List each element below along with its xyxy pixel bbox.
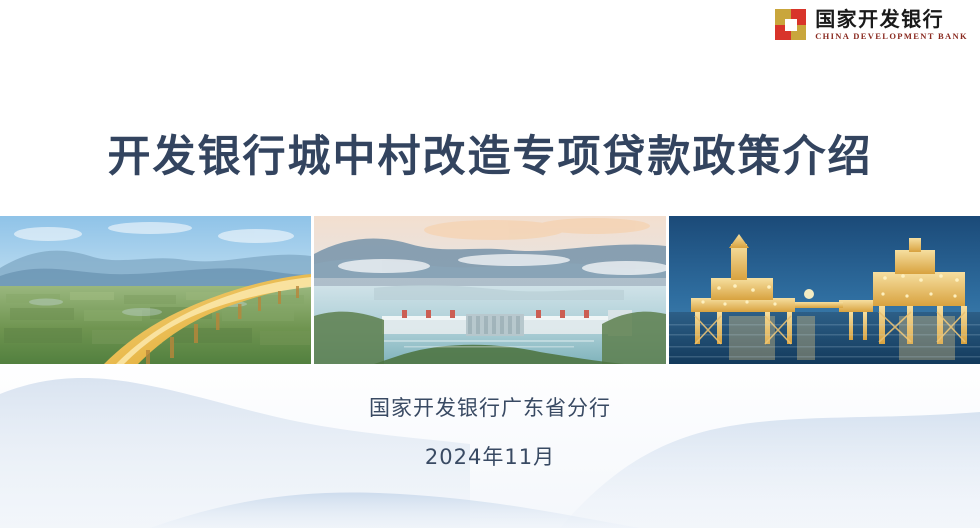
cdb-logo: 国家开发银行 CHINA DEVELOPMENT BANK [775,9,968,41]
logo-wordmark: 国家开发银行 CHINA DEVELOPMENT BANK [815,9,968,41]
presentation-title-slide: 国家开发银行 CHINA DEVELOPMENT BANK 开发银行城中村改造专… [0,0,980,528]
logo-chinese-name: 国家开发银行 [815,9,968,29]
three-gorges-dam-photo [314,216,666,364]
highway-viaduct-farmland-photo [0,216,311,364]
offshore-oil-platform-photo [669,216,980,364]
footer-date: 2024年11月 [0,445,980,470]
slide-footer: 国家开发银行广东省分行 2024年11月 [0,396,980,470]
footer-organization: 国家开发银行广东省分行 [0,396,980,421]
photo-band [0,216,980,364]
cdb-checker-logo-icon [775,9,806,40]
logo-english-name: CHINA DEVELOPMENT BANK [815,32,968,41]
slide-title: 开发银行城中村改造专项贷款政策介绍 [0,122,980,184]
